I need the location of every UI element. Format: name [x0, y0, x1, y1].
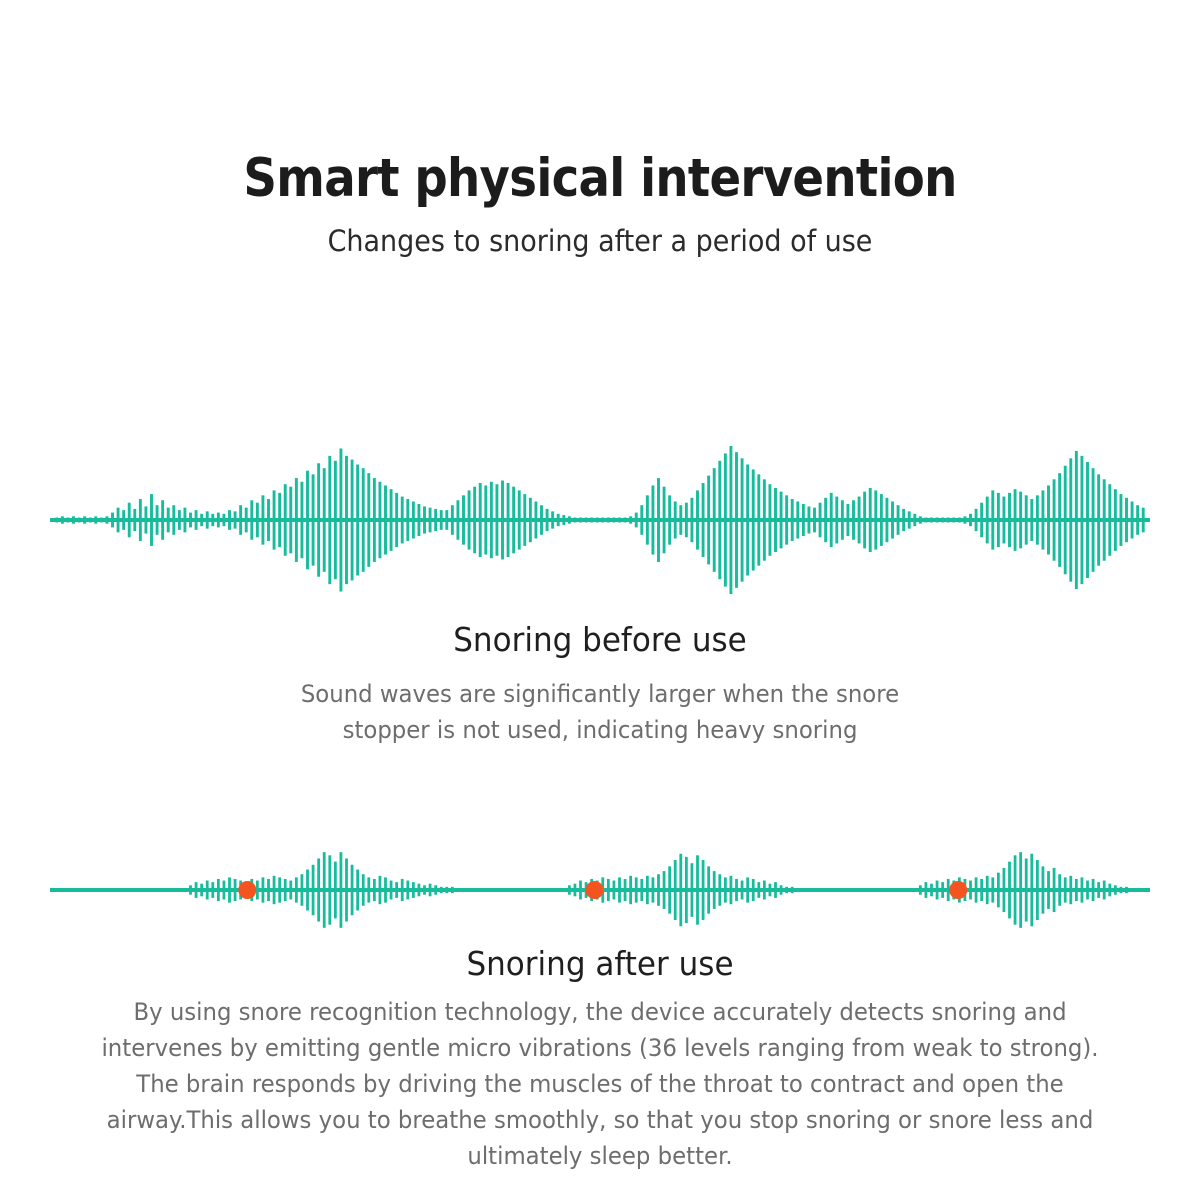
waveform-bar: [100, 518, 103, 523]
waveform-bar: [1064, 877, 1067, 902]
waveform-bar: [362, 874, 365, 906]
waveform-bar: [429, 884, 432, 897]
waveform-bar: [484, 485, 487, 554]
waveform-bar: [1064, 466, 1067, 575]
waveform-bar: [312, 474, 315, 565]
waveform-bar: [122, 510, 125, 530]
waveform-bar: [835, 497, 838, 544]
waveform-bar: [718, 461, 721, 579]
waveform-bar: [256, 881, 259, 900]
waveform-bar: [1058, 874, 1061, 906]
waveform-bar: [256, 503, 259, 538]
waveform-bar: [518, 490, 521, 549]
waveform-bar: [351, 865, 354, 915]
waveform-bar: [780, 885, 783, 894]
waveform-bar: [423, 506, 426, 533]
waveform-bar: [919, 516, 922, 523]
waveform-bar: [418, 884, 421, 897]
waveform-bar: [863, 492, 866, 549]
waveform-bar: [89, 518, 92, 523]
waveform-bar: [94, 516, 97, 523]
waveform-bar: [406, 881, 409, 900]
waveform-bar: [317, 858, 320, 921]
waveform-bar: [211, 882, 214, 898]
waveform-bar: [345, 858, 348, 921]
page-subtitle: Changes to snoring after a period of use: [42, 210, 1158, 260]
waveform-bar: [975, 877, 978, 902]
waveform-bar: [690, 498, 693, 542]
waveform-bar: [1003, 868, 1006, 912]
waveform-bar: [679, 505, 682, 535]
waveform-bar: [262, 877, 265, 902]
waveform-bar: [724, 453, 727, 586]
waveform-bar: [83, 516, 86, 523]
page-title: Smart physical intervention: [72, 0, 1128, 210]
waveform-bar: [891, 502, 894, 539]
waveform-bar: [1097, 474, 1100, 565]
waveform-bar: [652, 877, 655, 902]
waveform-bar: [846, 504, 849, 536]
waveform-bar: [830, 493, 833, 547]
waveform-bar: [334, 461, 337, 579]
waveform-bar: [1041, 490, 1044, 549]
waveform-bar: [975, 509, 978, 531]
section-after-use: Snoring after use By using snore recogni…: [0, 942, 1200, 1174]
waveform-bar: [1036, 495, 1039, 544]
waveform-bar: [1047, 485, 1050, 554]
waveform-bar: [969, 881, 972, 900]
waveform-bar: [250, 500, 253, 539]
waveform-bar: [401, 497, 404, 544]
waveform-bar: [211, 514, 214, 526]
waveform-bar: [1069, 876, 1072, 904]
waveform-bar: [1114, 885, 1117, 894]
waveform-bar: [156, 505, 159, 535]
waveform-bar: [295, 478, 298, 562]
waveform-bar: [490, 482, 493, 558]
waveform-bar: [757, 882, 760, 898]
waveform-bar: [105, 516, 108, 523]
waveform-bar: [351, 460, 354, 581]
waveform-bar: [1042, 866, 1045, 913]
waveform-bar: [936, 881, 939, 900]
waveform-bar: [713, 468, 716, 572]
waveform-bar: [612, 518, 615, 523]
waveform-bar: [434, 885, 437, 894]
vibration-intervention-marker-icon: [949, 881, 967, 899]
waveform-bar: [289, 487, 292, 554]
waveform-bar: [395, 493, 398, 547]
waveform-bar: [858, 497, 861, 544]
waveform-bar: [780, 492, 783, 549]
waveform-bar: [384, 485, 387, 554]
waveform-bar: [379, 876, 382, 904]
waveform-bar: [746, 465, 749, 576]
waveform-after-use: [0, 845, 1200, 935]
waveform-bar: [902, 509, 905, 531]
waveform-bar: [991, 490, 994, 549]
waveform-bar: [874, 490, 877, 549]
waveform-bar: [919, 885, 922, 894]
waveform-bar: [752, 879, 755, 901]
waveform-bar: [412, 502, 415, 539]
waveform-bar: [651, 485, 654, 554]
waveform-bar: [618, 877, 621, 902]
waveform-bar: [222, 514, 225, 526]
waveform-bar: [1092, 468, 1095, 572]
waveform-bar: [997, 493, 1000, 547]
waveform-bar: [718, 874, 721, 906]
waveform-bar: [534, 502, 537, 539]
waveform-bar: [507, 483, 510, 557]
waveform-bar: [1103, 479, 1106, 560]
waveform-bar: [195, 882, 198, 898]
waveform-bar: [579, 518, 582, 523]
waveform-bar: [1019, 852, 1022, 928]
waveform-bar: [607, 518, 610, 523]
waveform-bar: [133, 509, 136, 531]
waveform-bar: [1142, 508, 1145, 533]
waveform-bar: [540, 505, 543, 535]
waveform-bar: [429, 508, 432, 533]
waveform-bar: [1053, 868, 1056, 912]
waveform-bar: [791, 887, 794, 893]
waveform-bar: [1030, 499, 1033, 541]
waveform-bar: [730, 876, 733, 904]
waveform-bar: [206, 881, 209, 900]
waveform-bar: [980, 879, 983, 901]
waveform-bar: [1086, 462, 1089, 578]
waveform-bar: [378, 482, 381, 558]
waveform-bar: [663, 487, 666, 554]
waveform-bar: [340, 852, 343, 928]
waveform-bar: [707, 476, 710, 565]
waveform-bar: [969, 514, 972, 526]
waveform-bar: [568, 885, 571, 894]
waveform-before-use-graphic: [50, 440, 1150, 600]
waveform-after-use-graphic: [50, 845, 1150, 935]
waveform-bar: [913, 514, 916, 526]
waveform-bar: [217, 513, 220, 528]
waveform-bar: [172, 505, 175, 535]
waveform-bar: [284, 484, 287, 556]
waveform-bar: [802, 504, 805, 536]
waveform-bar: [741, 881, 744, 900]
waveform-bar: [61, 516, 64, 523]
waveform-bar: [1075, 451, 1078, 589]
waveform-bar: [234, 511, 237, 528]
waveform-bar: [1092, 879, 1095, 901]
waveform-bar: [301, 874, 304, 906]
waveform-bar: [601, 518, 604, 523]
waveform-bar: [1025, 858, 1028, 921]
waveform-bar: [451, 887, 454, 893]
waveform-bar: [596, 518, 599, 523]
section-heading-after-use: Snoring after use: [36, 942, 1164, 986]
waveform-bar: [373, 879, 376, 901]
waveform-bar: [273, 490, 276, 549]
waveform-bar: [936, 518, 939, 523]
waveform-bar: [406, 499, 409, 541]
waveform-bar: [417, 504, 420, 536]
waveform-bar: [239, 505, 242, 535]
waveform-bar: [178, 510, 181, 530]
waveform-bar: [713, 871, 716, 909]
waveform-bar: [763, 881, 766, 900]
waveform-bar: [356, 870, 359, 911]
waveform-bar: [412, 882, 415, 898]
waveform-bar: [885, 498, 888, 542]
waveform-bar: [245, 508, 248, 533]
waveform-bar: [551, 511, 554, 528]
waveform-bar: [952, 518, 955, 523]
waveform-bar: [1080, 456, 1083, 584]
waveform-before-use: [0, 440, 1200, 600]
waveform-bar: [512, 487, 515, 554]
waveform-bar: [306, 870, 309, 911]
waveform-bar: [1075, 879, 1078, 901]
waveform-bar: [384, 877, 387, 902]
waveform-bar: [1120, 887, 1123, 893]
waveform-bar: [1014, 855, 1017, 924]
waveform-bar: [529, 498, 532, 542]
waveform-bar: [685, 503, 688, 538]
waveform-bar: [300, 482, 303, 558]
waveform-bar: [312, 865, 315, 915]
waveform-bar: [462, 495, 465, 544]
waveform-bar: [445, 887, 448, 893]
waveform-bar: [635, 877, 638, 902]
waveform-bar: [941, 882, 944, 898]
waveform-bar: [200, 884, 203, 897]
waveform-bar: [930, 518, 933, 523]
waveform-bar: [757, 474, 760, 565]
waveform-bar: [1136, 505, 1139, 535]
waveform-bar: [1119, 494, 1122, 546]
waveform-bar: [1108, 884, 1111, 897]
waveform-bar: [278, 493, 281, 547]
waveform-bar: [729, 446, 732, 594]
waveform-bar: [55, 518, 58, 523]
vibration-intervention-marker-icon: [586, 881, 604, 899]
waveform-bar: [963, 516, 966, 523]
waveform-bar: [289, 881, 292, 900]
waveform-bar: [362, 468, 365, 572]
waveform-bar: [1036, 860, 1039, 920]
waveform-bar: [128, 503, 131, 538]
waveform-bar: [824, 498, 827, 542]
waveform-bar: [925, 882, 928, 898]
waveform-bar: [735, 879, 738, 901]
waveform-bar: [150, 494, 153, 546]
waveform-bar: [161, 500, 164, 539]
waveform-bar: [445, 510, 448, 530]
waveform-bar: [679, 854, 682, 927]
waveform-bar: [574, 884, 577, 897]
waveform-bar: [200, 514, 203, 526]
waveform-bar: [613, 881, 616, 900]
waveform-bar: [696, 490, 699, 549]
waveform-bar: [228, 877, 231, 902]
waveform-bar: [228, 510, 231, 530]
waveform-bar: [356, 465, 359, 576]
waveform-bar: [774, 882, 777, 898]
waveform-bar: [1103, 881, 1106, 900]
waveform-bar: [590, 518, 593, 523]
waveform-bar: [685, 857, 688, 923]
waveform-bar: [624, 879, 627, 901]
waveform-bar: [924, 518, 927, 523]
waveform-bar: [523, 494, 526, 546]
waveform-bar: [791, 499, 794, 541]
waveform-bar: [568, 516, 571, 523]
waveform-bar: [495, 484, 498, 556]
waveform-bar: [557, 514, 560, 526]
waveform-bar: [189, 513, 192, 528]
waveform-bar: [819, 503, 822, 538]
waveform-bar: [629, 516, 632, 523]
waveform-bar: [618, 518, 621, 523]
waveform-bar: [980, 503, 983, 538]
waveform-bar: [328, 855, 331, 924]
waveform-bar: [1069, 458, 1072, 581]
waveform-bar: [456, 500, 459, 539]
poster-page: Smart physical intervention Changes to s…: [0, 0, 1200, 1200]
waveform-bar: [195, 510, 198, 530]
waveform-bar: [668, 866, 671, 913]
waveform-bar: [284, 879, 287, 901]
header: Smart physical intervention Changes to s…: [0, 0, 1200, 260]
waveform-bar: [373, 478, 376, 562]
waveform-bar: [752, 469, 755, 570]
waveform-bar: [1125, 887, 1128, 893]
waveform-bar: [1008, 862, 1011, 919]
waveform-bar: [1025, 495, 1028, 544]
waveform-bar: [941, 518, 944, 523]
waveform-bar: [267, 879, 270, 901]
waveform-bar: [869, 488, 872, 552]
waveform-bar: [1019, 492, 1022, 549]
waveform-bar: [223, 881, 226, 900]
waveform-bar: [339, 448, 342, 591]
waveform-bar: [768, 484, 771, 556]
waveform-bar: [724, 877, 727, 902]
waveform-bar: [646, 495, 649, 544]
waveform-bar: [401, 879, 404, 901]
waveform-bar: [1002, 497, 1005, 544]
waveform-bar: [295, 877, 298, 902]
vibration-intervention-marker-icon: [238, 881, 256, 899]
waveform-bar: [640, 505, 643, 535]
waveform-bar: [66, 518, 69, 523]
waveform-bar: [72, 516, 75, 523]
waveform-bar: [657, 478, 660, 562]
waveform-bar: [317, 463, 320, 576]
waveform-bar: [273, 876, 276, 904]
waveform-bar: [1058, 473, 1061, 567]
waveform-bar: [735, 452, 738, 588]
waveform-bar: [746, 877, 749, 902]
waveform-bar: [947, 518, 950, 523]
waveform-bar: [657, 874, 660, 906]
waveform-bar: [668, 495, 671, 544]
waveform-bar: [573, 518, 576, 523]
waveform-bar: [1008, 493, 1011, 547]
waveform-bar: [785, 495, 788, 544]
waveform-bar: [691, 863, 694, 917]
waveform-bar: [390, 881, 393, 900]
waveform-bar: [395, 882, 398, 898]
section-before-use: Snoring before use Sound waves are signi…: [0, 618, 1200, 748]
waveform-bar: [468, 490, 471, 549]
waveform-bar: [880, 494, 883, 546]
waveform-bar: [440, 887, 443, 893]
waveform-bar: [111, 513, 114, 528]
waveform-bar: [367, 473, 370, 567]
waveform-bar: [278, 877, 281, 902]
waveform-bar: [328, 456, 331, 584]
waveform-bar: [908, 511, 911, 528]
waveform-bar: [261, 495, 264, 544]
waveform-bar: [585, 518, 588, 523]
waveform-bar: [451, 505, 454, 535]
waveform-bar: [440, 510, 443, 530]
waveform-bar: [986, 497, 989, 544]
waveform-bar: [852, 500, 855, 539]
waveform-bar: [696, 855, 699, 924]
section-body-before-use: Sound waves are significantly larger whe…: [258, 662, 942, 748]
waveform-bar: [629, 876, 632, 904]
waveform-bar: [1086, 881, 1089, 900]
waveform-bar: [741, 458, 744, 581]
waveform-bar: [267, 499, 270, 541]
waveform-bar: [183, 508, 186, 533]
waveform-bar: [345, 456, 348, 584]
section-heading-before-use: Snoring before use: [36, 618, 1164, 662]
waveform-bar: [1114, 489, 1117, 551]
waveform-bar: [607, 879, 610, 901]
waveform-bar: [434, 509, 437, 531]
waveform-bar: [117, 508, 120, 533]
waveform-bar: [674, 860, 677, 920]
waveform-bar: [841, 500, 844, 539]
waveform-bar: [1081, 877, 1084, 902]
waveform-bar: [323, 852, 326, 928]
waveform-bar: [167, 508, 170, 533]
waveform-bar: [367, 877, 370, 902]
waveform-bar: [1047, 871, 1050, 909]
waveform-bar: [1014, 489, 1017, 551]
waveform-bar: [813, 508, 816, 533]
waveform-bar: [473, 487, 476, 554]
waveform-bar: [674, 502, 677, 539]
waveform-bar: [930, 884, 933, 897]
waveform-bar: [986, 876, 989, 904]
waveform-bar: [897, 505, 900, 535]
waveform-bar: [234, 879, 237, 901]
waveform-bar: [390, 489, 393, 551]
waveform-bar: [769, 884, 772, 897]
waveform-baseline: [50, 518, 1150, 522]
waveform-bar: [785, 887, 788, 893]
waveform-bar: [501, 481, 504, 560]
waveform-bar: [702, 483, 705, 557]
waveform-bar: [579, 881, 582, 900]
waveform-bar: [139, 499, 142, 541]
waveform-bar: [774, 488, 777, 552]
waveform-bar: [1108, 484, 1111, 556]
waveform-bar: [323, 468, 326, 572]
